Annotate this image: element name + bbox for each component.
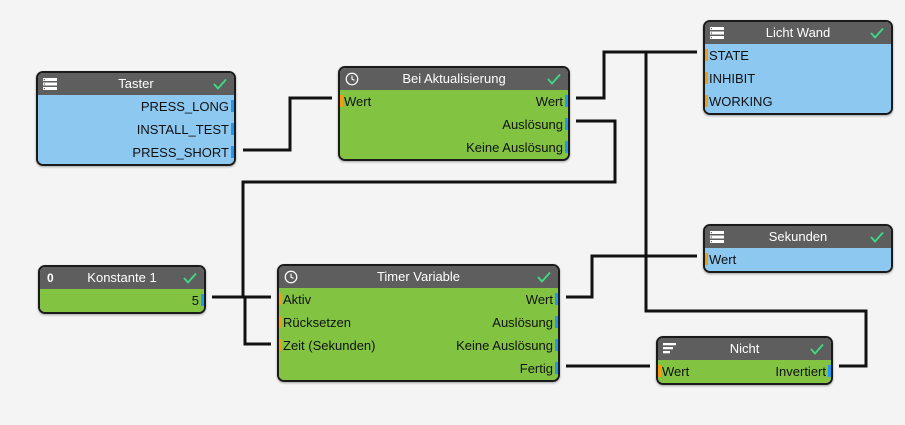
port-row[interactable]: INHIBIT — [705, 67, 891, 90]
node-index-badge: 0 — [47, 267, 54, 289]
port-label: Invertiert — [775, 360, 826, 383]
node-taster-header[interactable]: Taster — [38, 73, 234, 95]
output-port[interactable] — [555, 316, 560, 328]
text-lines-icon — [663, 342, 677, 356]
output-port[interactable] — [555, 339, 560, 351]
input-port[interactable] — [338, 95, 343, 107]
port-label: INSTALL_TEST — [137, 118, 229, 141]
input-port[interactable] — [703, 95, 708, 107]
node-konstante-1-title: Konstante 1 — [87, 267, 156, 289]
output-port[interactable] — [231, 100, 236, 112]
node-licht-wand-title: Licht Wand — [766, 22, 831, 44]
port-row[interactable]: INSTALL_TEST — [38, 118, 234, 141]
node-timer-variable-header[interactable]: Timer Variable — [279, 266, 558, 288]
input-port[interactable] — [703, 49, 708, 61]
node-licht-wand-header[interactable]: Licht Wand — [705, 22, 891, 44]
port-label: Wert — [344, 90, 371, 113]
node-timer-variable-title: Timer Variable — [377, 266, 460, 288]
port-row[interactable]: WORKING — [705, 90, 891, 113]
port-row[interactable]: Wert — [705, 248, 891, 271]
node-konstante-1[interactable]: 0 Konstante 1 5 — [38, 265, 206, 314]
output-port[interactable] — [565, 95, 570, 107]
port-label: STATE — [709, 44, 749, 67]
node-taster[interactable]: Taster PRESS_LONG INSTALL_TEST PRESS_SHO… — [36, 71, 236, 166]
port-label: INHIBIT — [709, 67, 755, 90]
node-konstante-1-header[interactable]: 0 Konstante 1 — [40, 267, 204, 289]
output-port[interactable] — [565, 141, 570, 153]
output-port[interactable] — [231, 123, 236, 135]
port-label: Wert — [536, 90, 563, 113]
input-port[interactable] — [277, 293, 282, 305]
port-label: Auslösung — [502, 113, 563, 136]
constant-value: 5 — [192, 289, 199, 312]
port-row[interactable]: PRESS_LONG — [38, 95, 234, 118]
node-graph-canvas[interactable]: Taster PRESS_LONG INSTALL_TEST PRESS_SHO… — [0, 0, 905, 425]
port-row[interactable]: Wert Wert — [340, 90, 568, 113]
node-konstante-1-body: 5 — [40, 289, 204, 312]
input-port[interactable] — [277, 339, 282, 351]
check-icon — [869, 25, 885, 41]
node-timer-variable[interactable]: Timer Variable Aktiv Wert Rücksetzen Aus… — [277, 264, 560, 382]
input-port[interactable] — [277, 316, 282, 328]
node-bei-aktualisierung-title: Bei Aktualisierung — [402, 68, 505, 90]
node-nicht-body: Wert Invertiert — [658, 360, 831, 383]
wire-wert-to-state — [576, 52, 697, 98]
port-label: WORKING — [709, 90, 773, 113]
node-bei-aktualisierung-body: Wert Wert Auslösung Keine Auslösung — [340, 90, 568, 159]
port-label: Zeit (Sekunden) — [283, 334, 376, 357]
port-label: PRESS_LONG — [141, 95, 229, 118]
port-row[interactable]: Aktiv Wert — [279, 288, 558, 311]
check-icon — [546, 71, 562, 87]
node-sekunden-body: Wert — [705, 248, 891, 271]
output-port[interactable] — [565, 118, 570, 130]
input-port[interactable] — [703, 72, 708, 84]
node-licht-wand-body: STATE INHIBIT WORKING — [705, 44, 891, 113]
input-port[interactable] — [656, 365, 661, 377]
node-licht-wand[interactable]: Licht Wand STATE INHIBIT WORKING — [703, 20, 893, 115]
wire-konstante-to-zeit — [212, 297, 271, 344]
port-label: Wert — [709, 248, 736, 271]
check-icon — [212, 76, 228, 92]
node-sekunden-title: Sekunden — [769, 226, 828, 248]
check-icon — [182, 270, 198, 286]
check-icon — [869, 229, 885, 245]
output-port[interactable] — [828, 365, 833, 377]
port-row[interactable]: Keine Auslösung — [340, 136, 568, 159]
port-label: Auslösung — [492, 311, 553, 334]
output-port[interactable] — [555, 293, 560, 305]
list-icon — [710, 230, 724, 244]
node-sekunden[interactable]: Sekunden Wert — [703, 224, 893, 273]
node-nicht-title: Nicht — [730, 338, 760, 360]
check-icon — [809, 341, 825, 357]
wire-timerwert-to-sekunden — [566, 256, 697, 297]
clock-icon — [345, 72, 359, 86]
input-port[interactable] — [703, 253, 708, 265]
port-row[interactable]: Auslösung — [340, 113, 568, 136]
port-label: Wert — [526, 288, 553, 311]
check-icon — [536, 269, 552, 285]
list-icon — [43, 77, 57, 91]
port-label: Wert — [662, 360, 689, 383]
port-row[interactable]: Rücksetzen Auslösung — [279, 311, 558, 334]
node-timer-variable-body: Aktiv Wert Rücksetzen Auslösung Zeit (Se… — [279, 288, 558, 380]
port-row[interactable]: STATE — [705, 44, 891, 67]
node-bei-aktualisierung-header[interactable]: Bei Aktualisierung — [340, 68, 568, 90]
node-sekunden-header[interactable]: Sekunden — [705, 226, 891, 248]
node-taster-title: Taster — [118, 73, 153, 95]
output-port[interactable] — [555, 362, 560, 374]
node-taster-body: PRESS_LONG INSTALL_TEST PRESS_SHORT — [38, 95, 234, 164]
port-row[interactable]: Fertig — [279, 357, 558, 380]
port-label: PRESS_SHORT — [132, 141, 229, 164]
port-row[interactable]: PRESS_SHORT — [38, 141, 234, 164]
wire-press-short-to-wert — [243, 98, 332, 150]
node-bei-aktualisierung[interactable]: Bei Aktualisierung Wert Wert Auslösung K… — [338, 66, 570, 161]
node-nicht-header[interactable]: Nicht — [658, 338, 831, 360]
port-row[interactable]: Wert Invertiert — [658, 360, 831, 383]
clock-icon — [284, 270, 298, 284]
port-label: Fertig — [520, 357, 553, 380]
port-row[interactable]: Zeit (Sekunden) Keine Auslösung — [279, 334, 558, 357]
port-label: Keine Auslösung — [466, 136, 563, 159]
node-nicht[interactable]: Nicht Wert Invertiert — [656, 336, 833, 385]
output-port[interactable] — [231, 146, 236, 158]
port-label: Aktiv — [283, 288, 311, 311]
port-row[interactable]: 5 — [40, 289, 204, 312]
list-icon — [710, 26, 724, 40]
output-port[interactable] — [201, 294, 206, 306]
port-label: Rücksetzen — [283, 311, 351, 334]
port-label: Keine Auslösung — [456, 334, 553, 357]
